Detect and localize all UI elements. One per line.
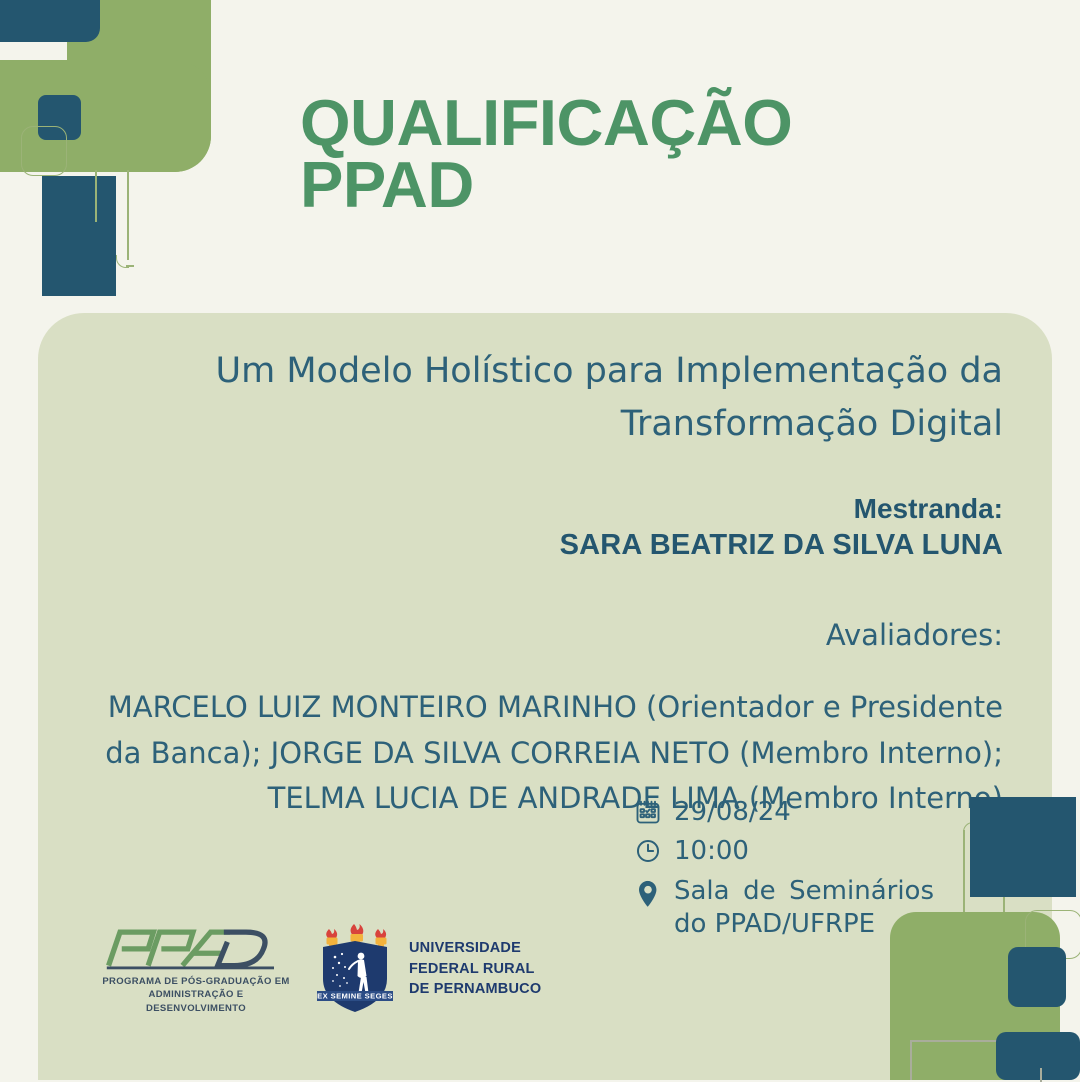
decor-blue-rounded-bottom bbox=[996, 1032, 1080, 1080]
detail-row-time: 10:00 bbox=[634, 835, 954, 868]
ppad-logo: PROGRAMA DE PÓS-GRADUAÇÃO EM ADMINISTRAÇ… bbox=[98, 926, 308, 1015]
decor-line-vertical-br-1 bbox=[963, 830, 965, 912]
calendar-icon bbox=[634, 796, 674, 826]
ufrpe-name: UNIVERSIDADE FEDERAL RURAL DE PERNAMBUCO bbox=[409, 938, 541, 1000]
decor-blue-tall-rect bbox=[42, 176, 116, 296]
ppad-subtitle-line2: ADMINISTRAÇÃO E DESENVOLVIMENTO bbox=[98, 988, 294, 1015]
student-block: Mestranda: SARA BEATRIZ DA SILVA LUNA bbox=[98, 491, 1003, 565]
decor-blue-rounded-topleft bbox=[0, 0, 100, 42]
ufrpe-crest-motto: EX SEMINE SEGES bbox=[317, 992, 393, 1001]
ufrpe-name-line2: FEDERAL RURAL bbox=[409, 959, 541, 980]
ppad-subtitle: PROGRAMA DE PÓS-GRADUAÇÃO EM ADMINISTRAÇ… bbox=[98, 975, 294, 1015]
thesis-title: Um Modelo Holístico para Implementação d… bbox=[98, 345, 1003, 450]
page-title: QUALIFICAÇÃO PPAD bbox=[300, 92, 1000, 216]
decor-line-vertical-left-2 bbox=[95, 170, 97, 222]
clock-icon bbox=[634, 835, 674, 865]
poster-canvas: QUALIFICAÇÃO PPAD Um Modelo Holístico pa… bbox=[0, 0, 1080, 1080]
decor-line-vertical-left-1 bbox=[127, 170, 129, 260]
ufrpe-logo: EX SEMINE SEGES UNIVERSIDADE FEDERAL RUR… bbox=[313, 923, 541, 1015]
decor-line-vertical-bottom bbox=[910, 1040, 912, 1080]
ppad-wordmark-icon bbox=[98, 926, 283, 970]
event-time: 10:00 bbox=[674, 835, 749, 868]
ufrpe-crest-icon: EX SEMINE SEGES bbox=[313, 923, 397, 1015]
map-pin-icon bbox=[634, 875, 674, 909]
page-title-line2: PPAD bbox=[300, 154, 1000, 216]
evaluators-block: Avaliadores: MARCELO LUIZ MONTEIRO MARIN… bbox=[68, 613, 1003, 822]
ppad-subtitle-line1: PROGRAMA DE PÓS-GRADUAÇÃO EM bbox=[98, 975, 294, 988]
decor-outline-square-left bbox=[21, 126, 67, 176]
decor-line-horizontal-left bbox=[126, 265, 134, 267]
ufrpe-name-line1: UNIVERSIDADE bbox=[409, 938, 541, 959]
decor-line-horizontal-bottom bbox=[910, 1040, 1004, 1042]
student-role-label: Mestranda: bbox=[98, 491, 1003, 526]
event-date: 29/08/24 bbox=[674, 796, 791, 829]
decor-blue-square-bottomright bbox=[1008, 947, 1066, 1007]
detail-row-date: 29/08/24 bbox=[634, 796, 954, 829]
decor-green-block-bottom bbox=[890, 1017, 1010, 1080]
student-name: SARA BEATRIZ DA SILVA LUNA bbox=[98, 526, 1003, 565]
evaluators-label: Avaliadores: bbox=[68, 613, 1003, 659]
decor-blue-rect-bottomright bbox=[970, 797, 1076, 897]
ufrpe-name-line3: DE PERNAMBUCO bbox=[409, 979, 541, 1000]
